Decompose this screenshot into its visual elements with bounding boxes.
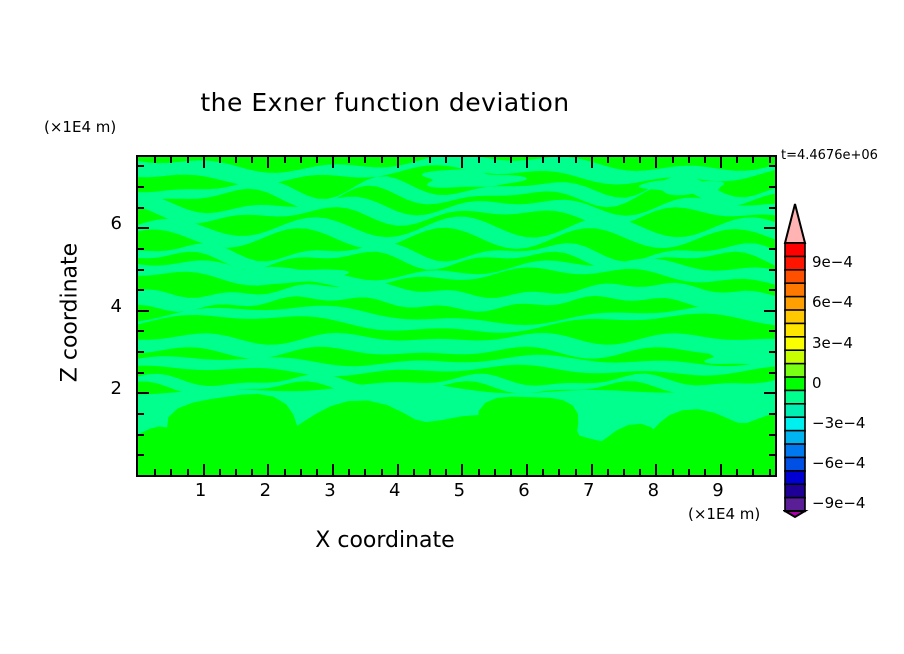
axis-tick xyxy=(575,469,577,475)
axis-tick xyxy=(397,157,399,168)
page-title: the Exner function deviation xyxy=(0,88,770,117)
contour-band xyxy=(704,348,775,364)
x-tick-label: 4 xyxy=(375,480,415,501)
colorbar-segment xyxy=(785,270,805,284)
colorbar-tick-label: 3e−4 xyxy=(812,334,853,352)
axis-tick xyxy=(461,157,463,168)
axis-tick xyxy=(154,469,156,475)
contour-field xyxy=(138,157,775,475)
colorbar-tick-label: 9e−4 xyxy=(812,253,853,271)
y-tick-label: 6 xyxy=(96,213,122,234)
axis-tick xyxy=(429,469,431,475)
axis-tick xyxy=(138,186,144,188)
colorbar-tick-label: 6e−4 xyxy=(812,293,853,311)
axis-tick xyxy=(138,165,144,167)
axis-tick xyxy=(348,469,350,475)
axis-tick xyxy=(203,157,205,168)
axis-tick xyxy=(655,157,657,168)
axis-tick xyxy=(688,469,690,475)
axis-tick xyxy=(769,372,775,374)
axis-tick xyxy=(736,469,738,475)
colorbar-segment xyxy=(785,377,805,391)
axis-tick xyxy=(769,157,771,163)
axis-tick xyxy=(769,248,775,250)
colorbar xyxy=(783,200,809,520)
axis-tick xyxy=(381,157,383,163)
x-tick-label: 2 xyxy=(245,480,285,501)
axis-tick xyxy=(764,310,775,312)
axis-tick xyxy=(623,469,625,475)
axis-tick xyxy=(284,157,286,163)
axis-tick xyxy=(138,351,144,353)
axis-tick xyxy=(591,464,593,475)
axis-tick xyxy=(364,157,366,163)
axis-tick xyxy=(219,157,221,163)
axis-tick xyxy=(170,157,172,163)
axis-tick xyxy=(203,464,205,475)
colorbar-segment xyxy=(785,390,805,404)
axis-tick xyxy=(672,157,674,163)
colorbar-segment xyxy=(785,283,805,297)
axis-tick xyxy=(494,469,496,475)
axis-tick xyxy=(591,157,593,168)
axis-tick xyxy=(138,413,144,415)
axis-tick xyxy=(138,269,144,271)
axis-tick xyxy=(639,157,641,163)
axis-tick xyxy=(769,269,775,271)
axis-tick xyxy=(235,469,237,475)
axis-tick xyxy=(769,207,775,209)
axis-tick xyxy=(769,165,775,167)
axis-tick xyxy=(138,310,149,312)
axis-tick xyxy=(138,372,144,374)
axis-tick xyxy=(316,469,318,475)
axis-tick xyxy=(300,157,302,163)
axis-tick xyxy=(138,207,144,209)
axis-tick xyxy=(752,469,754,475)
axis-tick xyxy=(688,157,690,163)
axis-tick xyxy=(672,469,674,475)
axis-tick xyxy=(187,469,189,475)
colorbar-segment xyxy=(785,498,805,512)
axis-tick xyxy=(769,469,771,475)
axis-tick xyxy=(138,434,144,436)
axis-tick xyxy=(704,157,706,163)
colorbar-segment xyxy=(785,350,805,364)
axis-tick xyxy=(138,330,144,332)
axis-tick xyxy=(769,330,775,332)
axis-tick xyxy=(655,464,657,475)
axis-tick xyxy=(445,469,447,475)
axis-tick xyxy=(478,157,480,163)
axis-tick xyxy=(769,434,775,436)
axis-tick xyxy=(769,186,775,188)
axis-tick xyxy=(251,157,253,163)
axis-tick xyxy=(478,469,480,475)
colorbar-over-arrow xyxy=(785,204,805,243)
axis-tick xyxy=(381,469,383,475)
axis-tick xyxy=(720,157,722,168)
x-tick-label: 9 xyxy=(698,480,738,501)
axis-tick xyxy=(526,464,528,475)
axis-tick xyxy=(138,227,149,229)
axis-tick xyxy=(397,464,399,475)
axis-tick xyxy=(764,392,775,394)
axis-tick xyxy=(736,157,738,163)
axis-tick xyxy=(769,413,775,415)
colorbar-segment xyxy=(785,243,805,257)
x-axis-title: X coordinate xyxy=(0,528,770,553)
axis-tick xyxy=(558,157,560,163)
axis-tick xyxy=(267,464,269,475)
axis-tick xyxy=(704,469,706,475)
colorbar-segment xyxy=(785,297,805,311)
axis-tick xyxy=(316,157,318,163)
axis-tick xyxy=(607,157,609,163)
axis-tick xyxy=(623,157,625,163)
axis-tick xyxy=(235,157,237,163)
axis-tick xyxy=(720,464,722,475)
x-tick-label: 1 xyxy=(181,480,221,501)
axis-tick xyxy=(445,157,447,163)
colorbar-segment xyxy=(785,471,805,485)
axis-tick xyxy=(607,469,609,475)
x-tick-label: 5 xyxy=(439,480,479,501)
colorbar-segment xyxy=(785,310,805,324)
axis-tick xyxy=(526,157,528,168)
axis-tick xyxy=(413,157,415,163)
colorbar-segment xyxy=(785,457,805,471)
axis-tick xyxy=(542,469,544,475)
timestamp-label: t=4.4676e+06 xyxy=(781,148,878,163)
x-tick-label: 8 xyxy=(633,480,673,501)
x-axis-unit-label: (×1E4 m) xyxy=(688,505,760,523)
axis-tick xyxy=(413,469,415,475)
colorbar-segment xyxy=(785,417,805,431)
colorbar-segment xyxy=(785,404,805,418)
axis-tick xyxy=(138,248,144,250)
axis-tick xyxy=(364,469,366,475)
colorbar-tick-label: −6e−4 xyxy=(812,454,865,472)
axis-tick xyxy=(251,469,253,475)
axis-tick xyxy=(769,454,775,456)
axis-tick xyxy=(300,469,302,475)
axis-tick xyxy=(461,464,463,475)
axis-tick xyxy=(154,157,156,163)
axis-tick xyxy=(170,469,172,475)
colorbar-segment xyxy=(785,444,805,458)
colorbar-tick-label: 0 xyxy=(812,374,822,392)
axis-tick xyxy=(510,469,512,475)
axis-tick xyxy=(219,469,221,475)
axis-tick xyxy=(769,289,775,291)
colorbar-tick-label: −9e−4 xyxy=(812,494,865,512)
axis-tick xyxy=(510,157,512,163)
axis-tick xyxy=(284,469,286,475)
y-axis-unit-label: (×1E4 m) xyxy=(44,118,116,136)
axis-tick xyxy=(429,157,431,163)
axis-tick xyxy=(542,157,544,163)
axis-tick xyxy=(187,157,189,163)
axis-tick xyxy=(138,392,149,394)
axis-tick xyxy=(494,157,496,163)
axis-tick xyxy=(332,464,334,475)
axis-tick xyxy=(138,289,144,291)
axis-tick xyxy=(332,157,334,168)
y-tick-label: 2 xyxy=(96,378,122,399)
colorbar-segment xyxy=(785,323,805,337)
colorbar-segment xyxy=(785,484,805,498)
axis-tick xyxy=(769,351,775,353)
axis-tick xyxy=(138,454,144,456)
colorbar-under-arrow xyxy=(785,511,805,517)
axis-tick xyxy=(752,157,754,163)
y-tick-label: 4 xyxy=(96,296,122,317)
colorbar-segment xyxy=(785,364,805,378)
axis-tick xyxy=(764,227,775,229)
contour-plot-frame xyxy=(136,155,777,477)
x-tick-label: 3 xyxy=(310,480,350,501)
colorbar-tick-label: −3e−4 xyxy=(812,414,865,432)
colorbar-swatches xyxy=(783,200,809,520)
axis-tick xyxy=(575,157,577,163)
x-tick-label: 6 xyxy=(504,480,544,501)
axis-tick xyxy=(267,157,269,168)
colorbar-segment xyxy=(785,431,805,445)
x-tick-label: 7 xyxy=(569,480,609,501)
axis-tick xyxy=(639,469,641,475)
colorbar-segment xyxy=(785,337,805,351)
colorbar-segment xyxy=(785,256,805,270)
axis-tick xyxy=(558,469,560,475)
y-axis-title: Z coordinate xyxy=(58,213,83,413)
axis-tick xyxy=(348,157,350,163)
